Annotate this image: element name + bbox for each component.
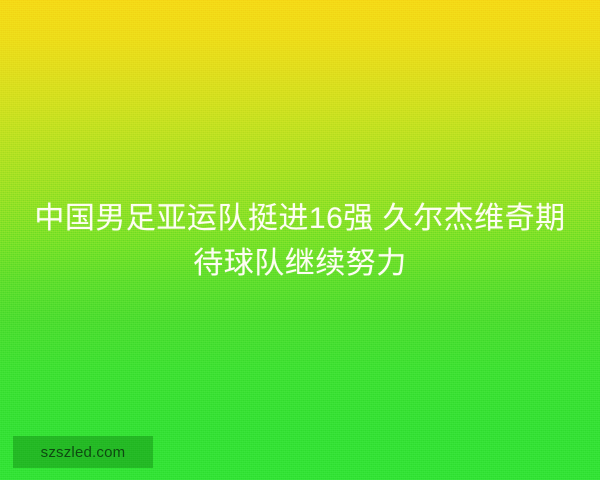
watermark-label: szszled.com (41, 445, 126, 460)
headline-text: 中国男足亚运队挺进16强 久尔杰维奇期待球队继续努力 (0, 196, 600, 286)
news-banner-image: 中国男足亚运队挺进16强 久尔杰维奇期待球队继续努力 szszled.com (0, 0, 600, 480)
watermark-badge: szszled.com (13, 436, 153, 468)
